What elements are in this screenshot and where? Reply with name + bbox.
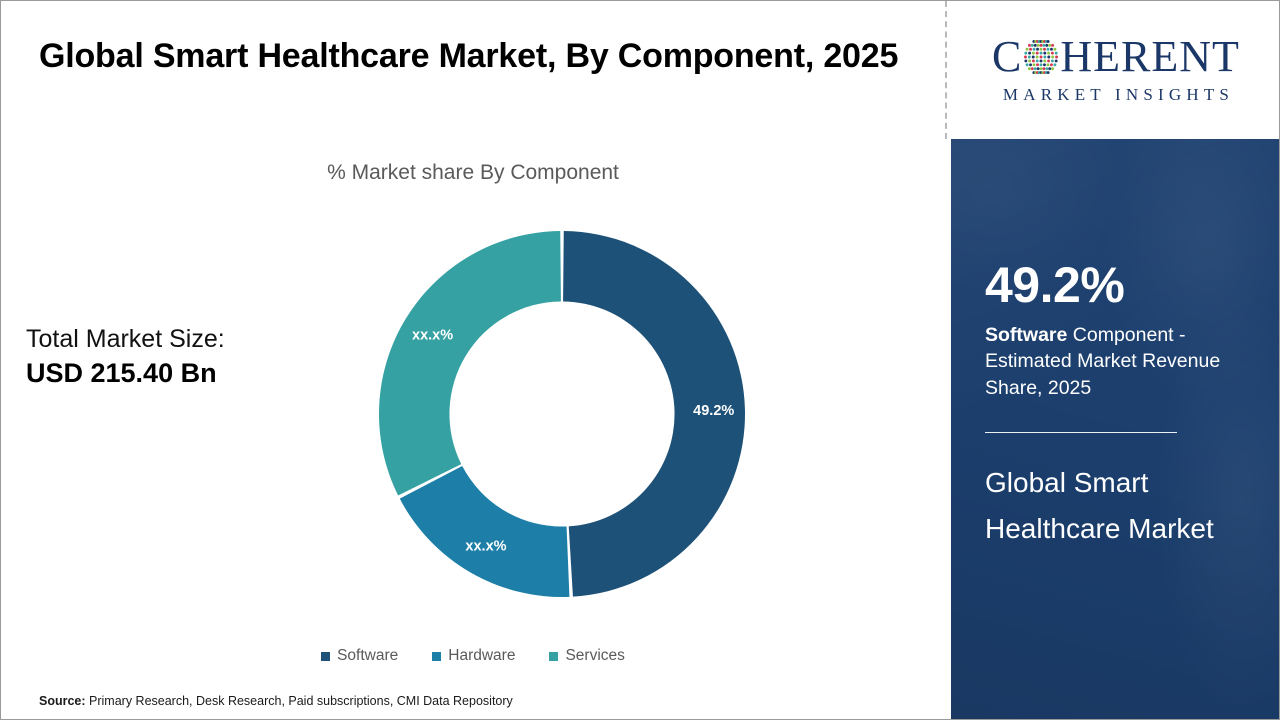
globe-dot [1031, 44, 1034, 47]
chart-subtitle: % Market share By Component [1, 161, 945, 185]
legend-label-hardware: Hardware [448, 647, 515, 665]
page-title: Global Smart Healthcare Market, By Compo… [39, 31, 919, 81]
globe-dot [1037, 67, 1040, 70]
globe-dot [1036, 52, 1039, 55]
legend-swatch-services [549, 652, 558, 661]
globe-dot [1054, 48, 1057, 51]
globe-dot [1036, 63, 1039, 66]
globe-dot [1028, 44, 1031, 47]
legend-item-hardware[interactable]: Hardware [432, 647, 515, 665]
donut-chart: 49.2%xx.x%xx.x% [371, 223, 753, 605]
globe-dot [1055, 59, 1058, 62]
sidebar-market-name: Global Smart Healthcare Market [985, 460, 1215, 551]
donut-chart-svg: 49.2%xx.x%xx.x% [371, 223, 753, 605]
globe-dot [1047, 63, 1050, 66]
globe-dot [1040, 44, 1043, 47]
sidebar-stat-description: Software Component - Estimated Market Re… [985, 322, 1235, 403]
donut-label-hardware: xx.x% [465, 538, 506, 554]
globe-dot [1046, 67, 1049, 70]
globe-dot [1052, 67, 1055, 70]
globe-dot [1054, 63, 1057, 66]
globe-dot [1049, 44, 1052, 47]
globe-dot [1028, 67, 1031, 70]
globe-dot [1026, 48, 1029, 51]
logo-word-herent: HERENT [1060, 35, 1240, 79]
donut-slice-group [379, 231, 745, 597]
legend-item-software[interactable]: Software [321, 647, 398, 665]
infographic-page: Global Smart Healthcare Market, By Compo… [0, 0, 1280, 720]
globe-dot [1036, 59, 1039, 62]
globe-dot [1040, 67, 1043, 70]
globe-dot [1028, 56, 1031, 59]
globe-dot [1043, 67, 1046, 70]
sidebar-content: 49.2% Software Component - Estimated Mar… [951, 259, 1280, 551]
globe-dot [1046, 44, 1049, 47]
globe-dot [1025, 52, 1028, 55]
globe-dot [1050, 63, 1053, 66]
globe-dot [1036, 48, 1039, 51]
globe-dot [1047, 71, 1050, 74]
globe-dot [1032, 52, 1035, 55]
logo-subtitle: MARKET INSIGHTS [998, 85, 1234, 105]
globe-dot [1031, 67, 1034, 70]
globe-dot [1055, 52, 1058, 55]
donut-label-services: xx.x% [412, 328, 453, 344]
globe-dot [1026, 63, 1029, 66]
globe-dot [1040, 63, 1043, 66]
legend-swatch-software [321, 652, 330, 661]
total-market-size-value: USD 215.40 Bn [26, 356, 356, 392]
globe-dot [1033, 63, 1036, 66]
globe-icon [1022, 38, 1060, 76]
main-panel: Global Smart Healthcare Market, By Compo… [1, 1, 945, 720]
legend-swatch-hardware [432, 652, 441, 661]
globe-dot [1051, 52, 1054, 55]
legend-item-services[interactable]: Services [549, 647, 624, 665]
globe-dot [1033, 48, 1036, 51]
globe-dot [1030, 48, 1033, 51]
globe-dot [1044, 59, 1047, 62]
stat-sidebar: 49.2% Software Component - Estimated Mar… [951, 139, 1280, 720]
logo-letter-c: C [992, 35, 1022, 79]
globe-dot [1034, 67, 1037, 70]
globe-dot [1032, 56, 1035, 59]
globe-dot [1052, 56, 1055, 59]
globe-dot [1048, 56, 1051, 59]
globe-dot [1044, 52, 1047, 55]
chart-legend: SoftwareHardwareServices [1, 647, 945, 665]
globe-dot [1048, 52, 1051, 55]
globe-dot [1056, 56, 1059, 59]
sidebar-desc-bold: Software [985, 324, 1067, 346]
globe-dot [1043, 44, 1046, 47]
globe-dot [1029, 59, 1032, 62]
globe-dot [1043, 48, 1046, 51]
globe-dot [1051, 59, 1054, 62]
source-line: Source: Primary Research, Desk Research,… [39, 694, 513, 708]
sidebar-divider [985, 432, 1177, 433]
source-text: Primary Research, Desk Research, Paid su… [86, 694, 513, 708]
legend-label-services: Services [565, 647, 624, 665]
globe-dot [1029, 52, 1032, 55]
globe-dot [1044, 56, 1047, 59]
globe-dot [1040, 56, 1043, 59]
globe-dot [1050, 48, 1053, 51]
globe-dot [1024, 56, 1027, 59]
legend-label-software: Software [337, 647, 398, 665]
globe-dot [1052, 44, 1055, 47]
total-market-size-block: Total Market Size: USD 215.40 Bn [26, 323, 356, 392]
donut-slice-hardware[interactable] [400, 466, 570, 597]
globe-dot [1047, 48, 1050, 51]
globe-dot [1047, 40, 1050, 43]
globe-dot [1032, 59, 1035, 62]
globe-dot [1048, 59, 1051, 62]
globe-dot [1030, 63, 1033, 66]
vertical-dashed-divider [945, 1, 947, 139]
globe-dot [1049, 67, 1052, 70]
globe-dot [1040, 52, 1043, 55]
source-prefix: Source: [39, 694, 86, 708]
globe-dot [1040, 59, 1043, 62]
globe-dot [1040, 48, 1043, 51]
globe-dot [1034, 44, 1037, 47]
sidebar-stat-value: 49.2% [985, 259, 1247, 312]
donut-slice-services[interactable] [379, 231, 561, 496]
donut-label-software: 49.2% [693, 403, 734, 419]
brand-logo: C HERENT MARKET INSIGHTS [951, 1, 1280, 139]
globe-dot [1036, 56, 1039, 59]
globe-dot [1025, 59, 1028, 62]
globe-dot [1043, 63, 1046, 66]
total-market-size-label: Total Market Size: [26, 323, 356, 356]
globe-dot [1037, 44, 1040, 47]
logo-wordmark: C HERENT [992, 35, 1240, 79]
